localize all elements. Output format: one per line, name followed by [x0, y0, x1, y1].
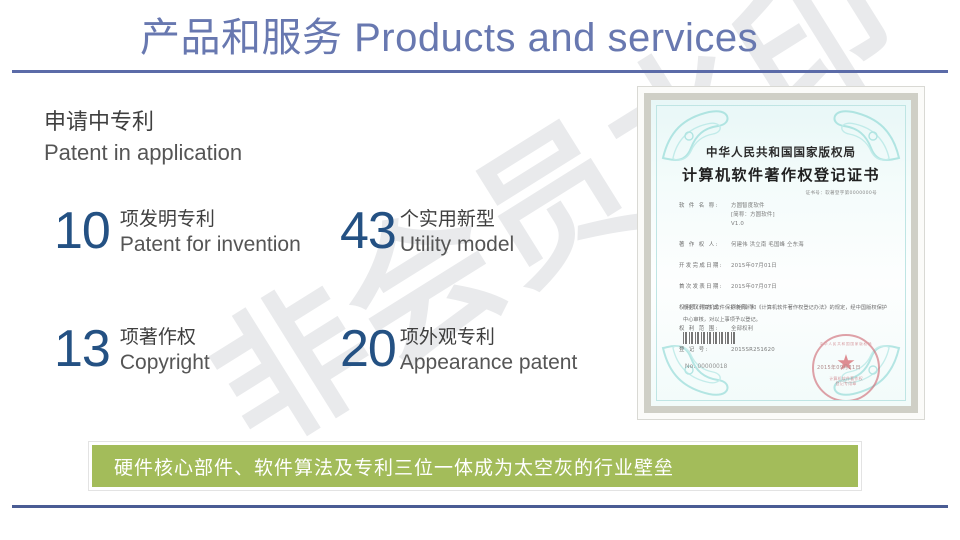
stat-number: 13: [54, 323, 110, 375]
highlight-banner-text: 硬件核心部件、软件算法及专利三位一体成为太空灰的行业壁垒: [114, 453, 674, 480]
stat-label-en: Appearance patent: [400, 350, 577, 376]
certificate-note: 根据《计算机软件保护条例》和《计算机软件著作权登记办法》的规定，经中国版权保护中…: [683, 302, 887, 326]
lead-label-en: Patent in application: [44, 138, 242, 168]
stat-label-cn: 个实用新型: [400, 207, 514, 232]
field-label: 登 记 号:: [679, 346, 731, 355]
lead-label-cn: 申请中专利: [44, 108, 242, 138]
field-label: 开发完成日期:: [679, 262, 731, 271]
certificate-number-label: No.: [685, 364, 696, 370]
spacer: [679, 272, 889, 283]
footer-divider: [12, 505, 948, 508]
seal-text: 计算机软件著作权 登记专用章: [814, 376, 878, 386]
header-divider: [12, 70, 948, 73]
page-title-cn: 产品和服务: [140, 15, 343, 61]
certificate-inner: 中华人民共和国国家版权局 计算机软件著作权登记证书 证书号：软著登字第00000…: [656, 105, 906, 401]
spacer: [679, 230, 889, 241]
certificate-field-row: 著 作 权 人: 何建伟 洪立南 毛国峰 仝东海: [679, 241, 889, 250]
certificate-sub-number: 证书号：软著登字第0000000号: [806, 190, 878, 196]
seal-top-text: 中华人民共和国国家版权局: [814, 342, 878, 347]
highlight-banner: 硬件核心部件、软件算法及专利三位一体成为太空灰的行业壁垒: [92, 445, 858, 487]
stat-label-en: Patent for invention: [120, 232, 301, 258]
field-value-line: 方圆智度软件: [731, 202, 775, 211]
stat-label-cn: 项发明专利: [120, 207, 301, 232]
field-value: 何建伟 洪立南 毛国峰 仝东海: [731, 241, 804, 250]
field-value: 方圆智度软件 [简称：方圆软件] V1.0: [731, 202, 775, 229]
certificate-image: 中华人民共和国国家版权局 计算机软件著作权登记证书 证书号：软著登字第00000…: [637, 86, 925, 420]
stat-label-cn: 项外观专利: [400, 325, 577, 350]
stat-label: 项发明专利 Patent for invention: [120, 205, 301, 258]
barcode-icon: [683, 332, 735, 344]
stat-label-en: Utility model: [400, 232, 514, 258]
field-label: 首次发表日期:: [679, 283, 731, 292]
page-title-en: Products and services: [354, 16, 758, 60]
stat-item-appearance-patent: 20 项外观专利 Appearance patent: [340, 323, 577, 376]
stat-number: 20: [340, 323, 396, 375]
field-value-line: V1.0: [731, 220, 775, 229]
certificate-field-row: 开发完成日期: 2015年07月01日: [679, 262, 889, 271]
certificate-field-row: 首次发表日期: 2015年07月07日: [679, 283, 889, 292]
certificate-number: No. 00000018: [685, 364, 728, 370]
lead-block: 申请中专利 Patent in application: [44, 108, 242, 168]
slide-header: 产品和服务 Products and services: [0, 0, 960, 76]
stat-item-copyright: 13 项著作权 Copyright: [54, 323, 210, 376]
certificate-organization: 中华人民共和国国家版权局: [657, 144, 905, 160]
page-title: 产品和服务 Products and services: [140, 10, 758, 66]
stat-label: 项著作权 Copyright: [120, 323, 210, 376]
spacer: [679, 251, 889, 262]
field-label: 著 作 权 人:: [679, 241, 731, 250]
field-value: 2015年07月07日: [731, 283, 777, 292]
stat-label: 项外观专利 Appearance patent: [400, 323, 577, 376]
stat-label-cn: 项著作权: [120, 325, 210, 350]
stat-item-utility-model: 43 个实用新型 Utility model: [340, 205, 514, 258]
stat-label-en: Copyright: [120, 350, 210, 376]
certificate-seal-date: 2015年09月21日: [817, 364, 861, 371]
stat-number: 43: [340, 205, 396, 257]
certificate-field-row: 软 件 名 称: 方圆智度软件 [简称：方圆软件] V1.0: [679, 202, 889, 229]
field-value: 2015SR251620: [731, 346, 775, 355]
stat-item-patent-invention: 10 项发明专利 Patent for invention: [54, 205, 301, 258]
stat-label: 个实用新型 Utility model: [400, 205, 514, 258]
seal-text-line: 登记专用章: [814, 381, 878, 386]
certificate-number-value: 00000018: [698, 364, 728, 370]
certificate-frame: 中华人民共和国国家版权局 计算机软件著作权登记证书 证书号：软著登字第00000…: [644, 93, 918, 413]
certificate-title: 计算机软件著作权登记证书: [657, 164, 905, 185]
field-value: 2015年07月01日: [731, 262, 777, 271]
field-value-line: [简称：方圆软件]: [731, 211, 775, 220]
stat-number: 10: [54, 205, 110, 257]
highlight-banner-frame: 硬件核心部件、软件算法及专利三位一体成为太空灰的行业壁垒: [88, 441, 862, 491]
field-label: 软 件 名 称:: [679, 202, 731, 229]
slide-canvas: 非会员水印 产品和服务 Products and services 申请中专利 …: [0, 0, 960, 540]
